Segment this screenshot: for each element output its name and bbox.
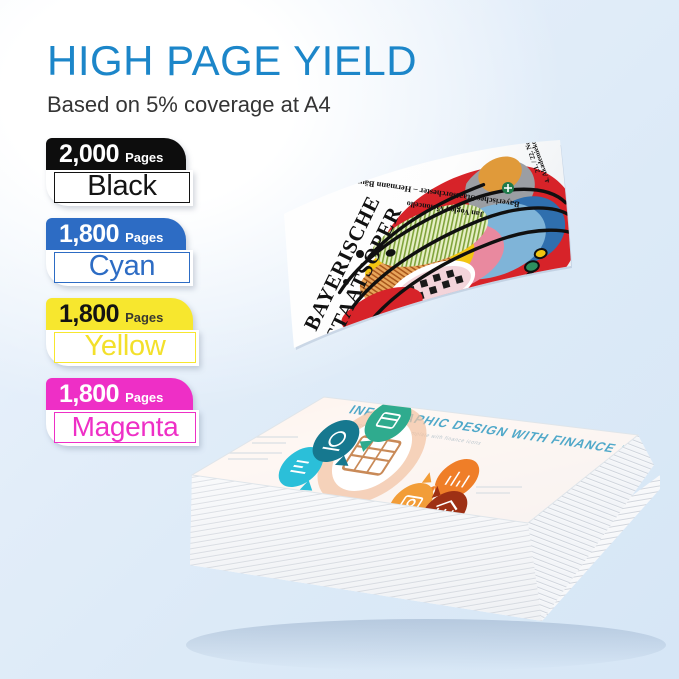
yield-badge-magenta-namebox: Magenta — [54, 412, 196, 443]
yield-badge-yellow: 1,800 Pages Yellow — [46, 298, 246, 366]
page-subtitle: Based on 5% coverage at A4 — [47, 91, 467, 119]
yield-badge-black-pages-label: Pages — [125, 151, 163, 164]
yield-badge-cyan-header: 1,800 Pages — [46, 218, 186, 250]
yield-badge-yellow-count: 1,800 — [59, 302, 119, 327]
yield-badge-black: 2,000 Pages Black — [46, 138, 246, 206]
printed-poster-sample: BAYERISCHE STAATSOPER Bayerisches Staats… — [272, 136, 572, 371]
yield-badge-cyan-pages-label: Pages — [125, 231, 163, 244]
yield-badge-magenta-count: 1,800 — [59, 382, 119, 407]
yield-badge-cyan-name: Cyan — [89, 252, 156, 281]
yield-badge-black-body: Black — [46, 170, 193, 206]
printed-paper-stack: INFOGRAPHIC DESIGN WITH FINANCE ICON SET… — [176, 383, 679, 673]
yield-badge-black-count: 2,000 — [59, 142, 119, 167]
paper-stack-svg: INFOGRAPHIC DESIGN WITH FINANCE ICON SET… — [176, 383, 679, 673]
poster-credit-line-3: Schulze – Bruckner — [416, 316, 484, 339]
yield-badge-magenta-header: 1,800 Pages — [46, 378, 193, 410]
yield-badge-magenta-name: Magenta — [72, 413, 179, 441]
yield-badge-cyan-count: 1,800 — [59, 222, 119, 247]
yield-badge-yellow-namebox: Yellow — [54, 332, 196, 363]
yield-badge-cyan-namebox: Cyan — [54, 252, 190, 283]
yield-badge-magenta-pages-label: Pages — [125, 391, 163, 404]
yield-badge-cyan: 1,800 Pages Cyan — [46, 218, 246, 286]
yield-badge-yellow-body: Yellow — [46, 330, 199, 366]
yield-badge-black-name: Black — [87, 172, 156, 201]
yield-badge-black-namebox: Black — [54, 172, 190, 203]
headline-block: HIGH PAGE YIELD Based on 5% coverage at … — [47, 36, 467, 119]
page-title: HIGH PAGE YIELD — [47, 36, 467, 86]
yield-badge-black-header: 2,000 Pages — [46, 138, 186, 170]
yield-badge-cyan-body: Cyan — [46, 250, 193, 286]
yield-badge-yellow-pages-label: Pages — [125, 311, 163, 324]
stack-ground-shadow — [186, 619, 666, 671]
yield-badge-yellow-header: 1,800 Pages — [46, 298, 193, 330]
product-feature-banner: HIGH PAGE YIELD Based on 5% coverage at … — [0, 0, 679, 679]
yield-badge-yellow-name: Yellow — [85, 332, 166, 361]
poster-svg: BAYERISCHE STAATSOPER Bayerisches Staats… — [272, 136, 572, 371]
